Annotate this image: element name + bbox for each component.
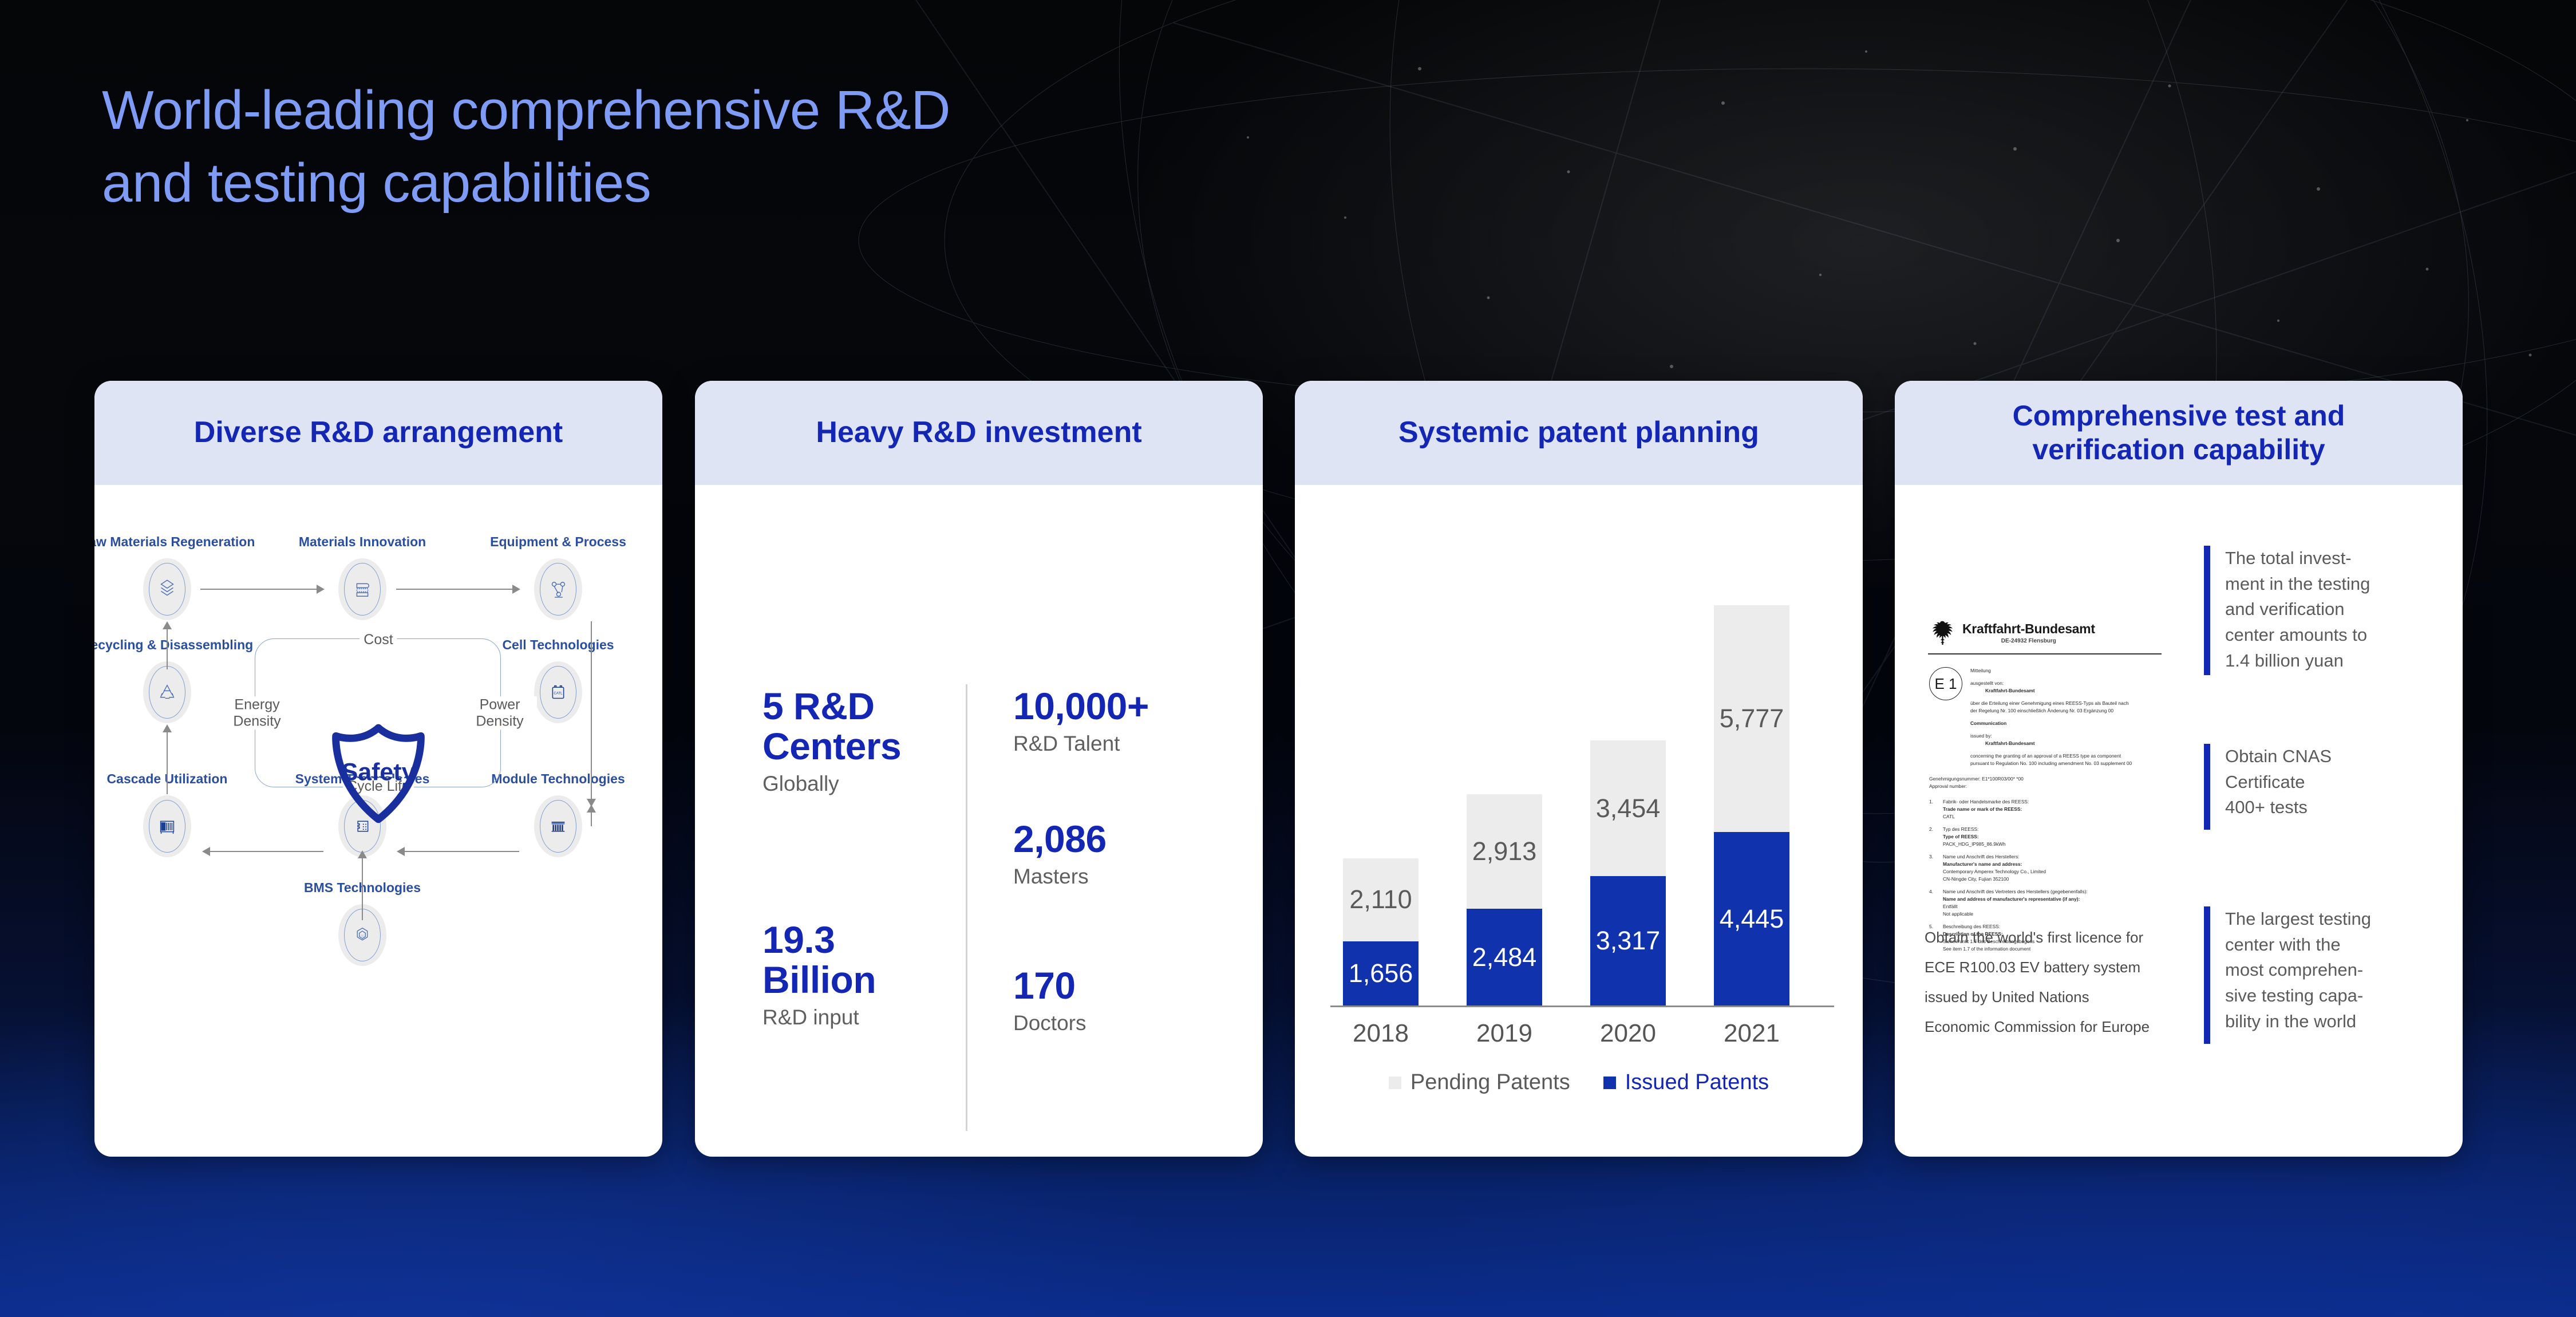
card4-title-line-1: Comprehensive test and [2013,399,2345,433]
stat-doctors-sub: Doctors [1013,1011,1086,1035]
legend-label-issued: Issued Patents [1625,1070,1769,1095]
bar-value-pending-2020: 3,454 [1590,794,1666,823]
stat-rd-centers: 5 R&D Centers Globally [762,687,901,796]
safety-shield: Safety [284,716,473,831]
fact-text-1: The total invest-ment in the testingand … [2225,546,2370,675]
bar-value-issued-2019: 2,484 [1467,943,1542,972]
certificate-item-line: Name und Anschrift des Vertreters des He… [1943,888,2088,896]
bar-segment-issued-2021: 4,445 [1714,832,1789,1006]
e1-approval-mark-icon: E 1 [1929,667,1962,700]
card-diverse-rd-arrangement: Diverse R&D arrangement Raw Materials Re… [94,381,662,1157]
cert-line-1: Mitteilung [1970,667,2132,675]
certificate-item-number: 2. [1929,826,1937,848]
certificate-org-address: DE-24932 Flensburg [1962,638,2095,644]
certificate-item-line: Type of REESS: [1943,833,2006,841]
bar-value-pending-2018: 2,110 [1343,885,1419,914]
card1-header: Diverse R&D arrangement [94,381,662,485]
fact-text-2: Obtain CNASCertificate400+ tests [2225,744,2332,830]
chart-legend: Pending Patents Issued Patents [1295,1070,1863,1095]
energy-density-line-1: Energy [224,696,290,713]
card1-title: Diverse R&D arrangement [194,415,563,450]
fact-line: 1.4 billion yuan [2225,648,2370,674]
card4-title: Comprehensive test and verification capa… [2013,399,2345,467]
x-axis-tick-2019: 2019 [1467,1019,1542,1048]
bar-segment-pending-2021: 5,777 [1714,605,1789,832]
fact-line: most comprehen- [2225,957,2371,983]
power-density-line-2: Density [467,713,533,730]
center-label-cost: Cost [359,632,397,648]
page-title-line-1: World-leading comprehensive R&D [102,74,1304,147]
fact-line: center amounts to [2225,622,2370,648]
certificate-item-number: 4. [1929,888,1937,918]
certificate-item-line: Manufacturer's name and address: [1943,861,2046,868]
center-label-power-density: Power Density [463,696,537,730]
certificate-item-number: 3. [1929,853,1937,883]
cert-line-2: ausgestellt von: [1970,680,2132,687]
certificate-text-block: Mitteilung ausgestellt von: Kraftfahrt-B… [1970,667,2132,767]
card2-header: Heavy R&D investment [695,381,1263,485]
cert-line-4: über die Erteilung einer Genehmigung ein… [1970,700,2132,707]
patent-bar-chart: 2,1101,65620182,9132,48420193,4543,31720… [1295,485,1863,1157]
stat-doctors: 170 Doctors [1013,966,1086,1035]
card4-body: Kraftfahrt-Bundesamt DE-24932 Flensburg … [1895,485,2463,1157]
stat-rd-talent: 10,000+ R&D Talent [1013,687,1149,756]
legend-item-issued-patents: Issued Patents [1603,1070,1769,1095]
fact-total-investment: The total invest-ment in the testingand … [2204,546,2433,675]
card2-body: 5 R&D Centers Globally 19.3 Billion R&D … [695,485,1263,1157]
german-eagle-icon [1929,618,1955,648]
stat-rd-centers-sub: Globally [762,772,901,796]
x-axis-tick-2020: 2020 [1590,1019,1666,1048]
bar-value-issued-2018: 1,656 [1343,959,1419,988]
stat-masters: 2,086 Masters [1013,819,1107,889]
fact-cnas-certificate: Obtain CNASCertificate400+ tests [2204,744,2433,830]
fact-line: ment in the testing [2225,571,2370,597]
legend-swatch-issued [1603,1077,1616,1089]
certificate-approval-number: Genehmigungsnummer: E1*100R03/00* *00 Ap… [1925,775,2165,790]
certificate-item-line: Contemporary Amperex Technology Co., Lim… [1943,868,2046,876]
certificate-item-line: CATL [1943,813,2029,821]
stat-rd-talent-value: 10,000+ [1013,687,1149,727]
cert-line-5: der Regelung Nr. 100 einschließlich Ände… [1970,707,2132,715]
cert-line-10: pursuant to Regulation No. 100 including… [1970,760,2132,767]
card-comprehensive-test-verification: Comprehensive test and verification capa… [1895,381,2463,1157]
card1-body: Raw Materials Regeneration Materials Inn… [94,485,662,1157]
stat-doctors-value: 170 [1013,966,1086,1006]
legend-swatch-pending [1389,1077,1401,1089]
stat-masters-sub: Masters [1013,865,1107,889]
bar-segment-pending-2020: 3,454 [1590,740,1666,876]
certificate-header: Kraftfahrt-Bundesamt DE-24932 Flensburg [1925,618,2165,648]
fact-accent-bar-3 [2204,906,2210,1044]
card4-title-line-2: verification capability [2013,433,2345,467]
certificate-item-line: Name und Anschrift des Herstellers: [1943,853,2046,861]
certificate-item-body: Fabrik- oder Handelsmarke des REESS:Trad… [1943,798,2029,821]
bar-segment-pending-2019: 2,913 [1467,794,1542,908]
stat-rd-centers-value-1: 5 R&D [762,687,901,727]
certificate-item-line: Entfällt [1943,903,2088,910]
stats-divider [966,684,967,1131]
page-title-line-2: and testing capabilities [102,147,1304,220]
shield-icon: Safety [284,716,473,831]
bar-column-2018: 2,1101,656 [1343,858,1419,1006]
certificate-item-line: Trade name or mark of the REESS: [1943,806,2029,813]
stat-rd-input-value-1: 19.3 [762,920,876,960]
certificate-item-body: Name und Anschrift des Herstellers:Manuf… [1943,853,2046,883]
certificate-item-line: Name and address of manufacturer's repre… [1943,896,2088,903]
fact-line: sive testing capa- [2225,983,2371,1009]
fact-largest-testing-center: The largest testingcenter with themost c… [2204,906,2433,1044]
fact-line: center with the [2225,932,2371,958]
certificate-list-item: 2.Typ des REESS:Type of REESS:PACK_HDG_I… [1929,826,2160,848]
fact-line: 400+ tests [2225,795,2332,821]
bar-column-2019: 2,9132,484 [1467,794,1542,1006]
center-label-energy-density: Energy Density [220,696,294,730]
bar-value-issued-2021: 4,445 [1714,904,1789,934]
bar-column-2021: 5,7774,445 [1714,605,1789,1006]
shield-label: Safety [342,758,416,786]
x-axis-tick-2018: 2018 [1343,1019,1419,1048]
cert-approval-no: Genehmigungsnummer: E1*100R03/00* *00 [1929,775,2160,783]
card4-header: Comprehensive test and verification capa… [1895,381,2463,485]
cert-line-9: concerning the granting of an approval o… [1970,752,2132,760]
bar-value-issued-2020: 3,317 [1590,926,1666,956]
card-systemic-patent-planning: Systemic patent planning 2,1101,65620182… [1295,381,1863,1157]
stat-rd-talent-sub: R&D Talent [1013,732,1149,756]
fact-line: and verification [2225,597,2370,622]
energy-density-line-2: Density [224,713,290,730]
chart-x-axis [1330,1006,1834,1007]
card3-body: 2,1101,65620182,9132,48420193,4543,31720… [1295,485,1863,1157]
cert-approval-no-en: Approval number: [1929,783,2160,790]
fact-accent-bar-1 [2204,546,2210,675]
stat-rd-input: 19.3 Billion R&D input [762,920,876,1030]
certificate-item-number: 1. [1929,798,1937,821]
stat-rd-input-value-2: Billion [762,960,876,1000]
bar-segment-pending-2018: 2,110 [1343,858,1419,941]
fact-accent-bar-2 [2204,744,2210,830]
card3-title: Systemic patent planning [1398,415,1759,450]
power-density-line-1: Power [467,696,533,713]
x-axis-tick-2021: 2021 [1714,1019,1789,1048]
certificate-item-line: Not applicable [1943,910,2088,918]
stat-masters-value: 2,086 [1013,819,1107,859]
stat-rd-input-sub: R&D input [762,1006,876,1030]
card3-header: Systemic patent planning [1295,381,1863,485]
certificate-item-line: PACK_HDG_IP985_86.9kWh [1943,841,2006,848]
certificate-caption: Obtain the world's first licence for ECE… [1925,922,2154,1042]
bar-segment-issued-2018: 1,656 [1343,941,1419,1006]
certificate-org-name: Kraftfahrt-Bundesamt [1962,621,2095,636]
fact-line: bility in the world [2225,1009,2371,1035]
certificate-document: Kraftfahrt-Bundesamt DE-24932 Flensburg … [1925,618,2165,898]
legend-label-pending: Pending Patents [1411,1070,1570,1095]
cert-line-6: Communication [1970,720,2006,726]
legend-item-pending-patents: Pending Patents [1389,1070,1570,1095]
certificate-list-item: 1.Fabrik- oder Handelsmarke des REESS:Tr… [1929,798,2160,821]
bar-column-2020: 3,4543,317 [1590,740,1666,1006]
card2-title: Heavy R&D investment [816,415,1141,450]
certificate-item-line: CN-Ningde City, Fujian 352100 [1943,876,2046,883]
fact-line: Obtain CNAS [2225,744,2332,770]
bar-value-pending-2019: 2,913 [1467,837,1542,866]
fact-text-3: The largest testingcenter with themost c… [2225,906,2371,1044]
card-heavy-rd-investment: Heavy R&D investment 5 R&D Centers Globa… [695,381,1263,1157]
cert-line-7: issued by: [1970,732,2132,740]
certificate-item-line: Typ des REESS: [1943,826,2006,833]
certificate-list-item: 4.Name und Anschrift des Vertreters des … [1929,888,2160,918]
certificate-body: E 1 Mitteilung ausgestellt von: Kraftfah… [1925,667,2165,767]
cert-line-8: Kraftfahrt-Bundesamt [1985,740,2035,746]
bar-segment-issued-2019: 2,484 [1467,909,1542,1006]
fact-line: The total invest- [2225,546,2370,571]
page-title: World-leading comprehensive R&D and test… [102,74,1304,219]
certificate-rule [1928,653,2162,654]
certificate-org: Kraftfahrt-Bundesamt DE-24932 Flensburg [1962,621,2095,644]
bar-value-pending-2021: 5,777 [1714,704,1789,734]
certificate-list-item: 3.Name und Anschrift des Herstellers:Man… [1929,853,2160,883]
certificate-item-body: Typ des REESS:Type of REESS:PACK_HDG_IP9… [1943,826,2006,848]
fact-line: Certificate [2225,770,2332,795]
bar-segment-issued-2020: 3,317 [1590,876,1666,1006]
cert-line-3: Kraftfahrt-Bundesamt [1985,688,2035,693]
fact-line: The largest testing [2225,906,2371,932]
certificate-item-line: Fabrik- oder Handelsmarke des REESS: [1943,798,2029,806]
stat-rd-centers-value-2: Centers [762,727,901,767]
certificate-item-body: Name und Anschrift des Vertreters des He… [1943,888,2088,918]
